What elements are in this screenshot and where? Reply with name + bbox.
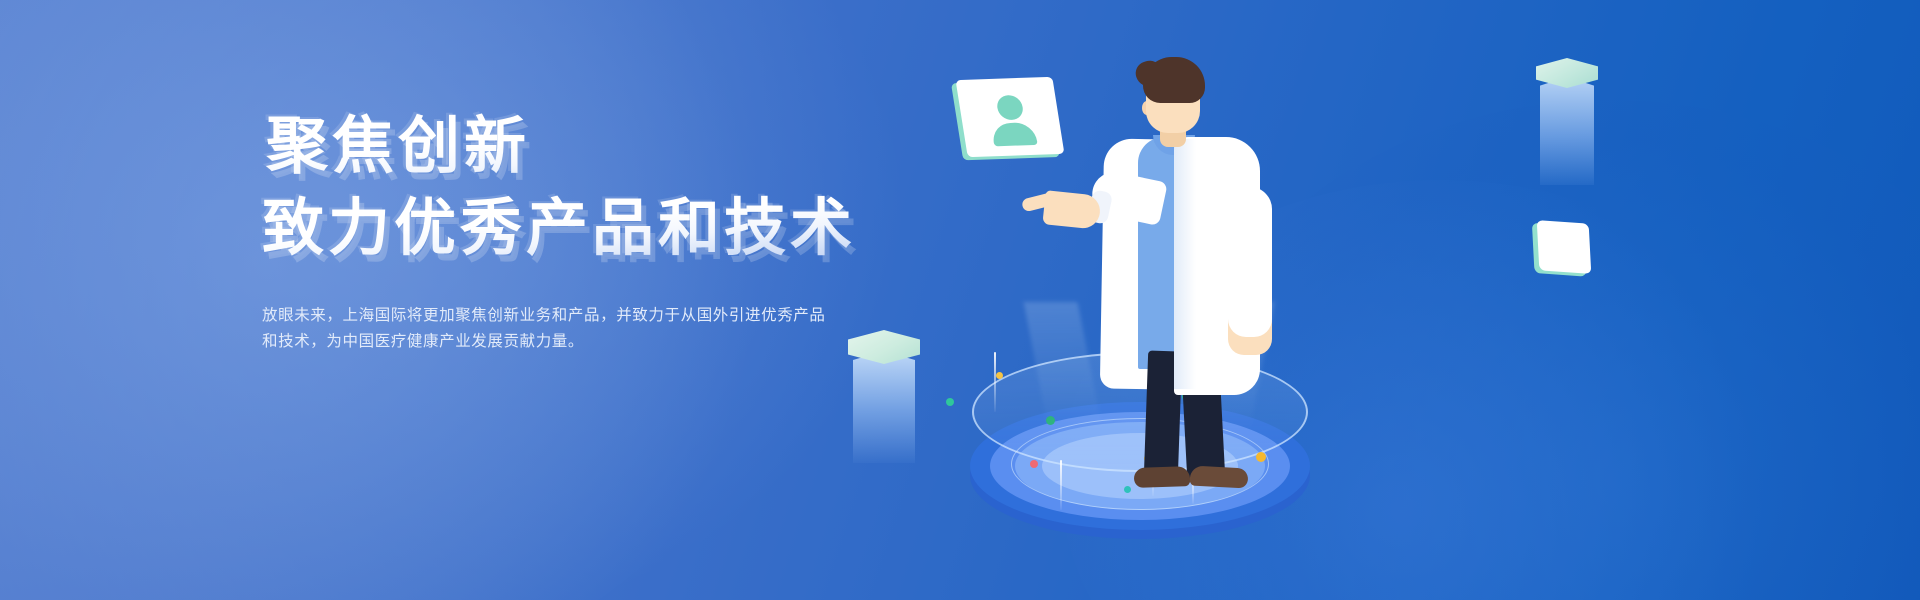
subtitle-line-2: 和技术，为中国医疗健康产业发展贡献力量。 bbox=[262, 329, 862, 355]
particle-dot bbox=[1030, 460, 1038, 468]
headline-line-1: 聚焦创新 bbox=[266, 104, 902, 190]
pillar-right-top bbox=[1536, 58, 1598, 88]
doctor-figure bbox=[1050, 55, 1310, 445]
banner-illustration bbox=[900, 0, 1920, 600]
particle-dot bbox=[1256, 452, 1266, 462]
arm-right bbox=[1228, 187, 1272, 337]
banner-copy: 聚焦创新 致力优秀产品和技术 放眼未来，上海国际将更加聚焦创新业务和产品，并致力… bbox=[262, 104, 902, 355]
headline-line-2: 致力优秀产品和技术 bbox=[262, 186, 902, 272]
light-streak bbox=[994, 352, 996, 412]
light-streak bbox=[1060, 460, 1062, 510]
lab-coat-shading bbox=[1174, 139, 1196, 389]
hero-banner: 聚焦创新 致力优秀产品和技术 放眼未来，上海国际将更加聚焦创新业务和产品，并致力… bbox=[0, 0, 1920, 600]
pillar-right-body bbox=[1540, 77, 1594, 185]
floating-pillar-right bbox=[1536, 58, 1598, 186]
particle-dot bbox=[1124, 486, 1131, 493]
banner-subtitle: 放眼未来，上海国际将更加聚焦创新业务和产品，并致力于从国外引进优秀产品 和技术，… bbox=[262, 303, 862, 355]
shoe-left bbox=[1134, 466, 1191, 488]
particle-dot bbox=[946, 398, 954, 406]
shoe-right bbox=[1190, 465, 1249, 488]
pillar-left-body bbox=[853, 351, 915, 463]
subtitle-line-1: 放眼未来，上海国际将更加聚焦创新业务和产品，并致力于从国外引进优秀产品 bbox=[262, 303, 862, 329]
floating-tile-icon bbox=[1537, 220, 1592, 274]
particle-dot bbox=[996, 372, 1003, 379]
user-profile-card-icon bbox=[956, 77, 1065, 157]
floating-pillar-left bbox=[848, 330, 920, 462]
